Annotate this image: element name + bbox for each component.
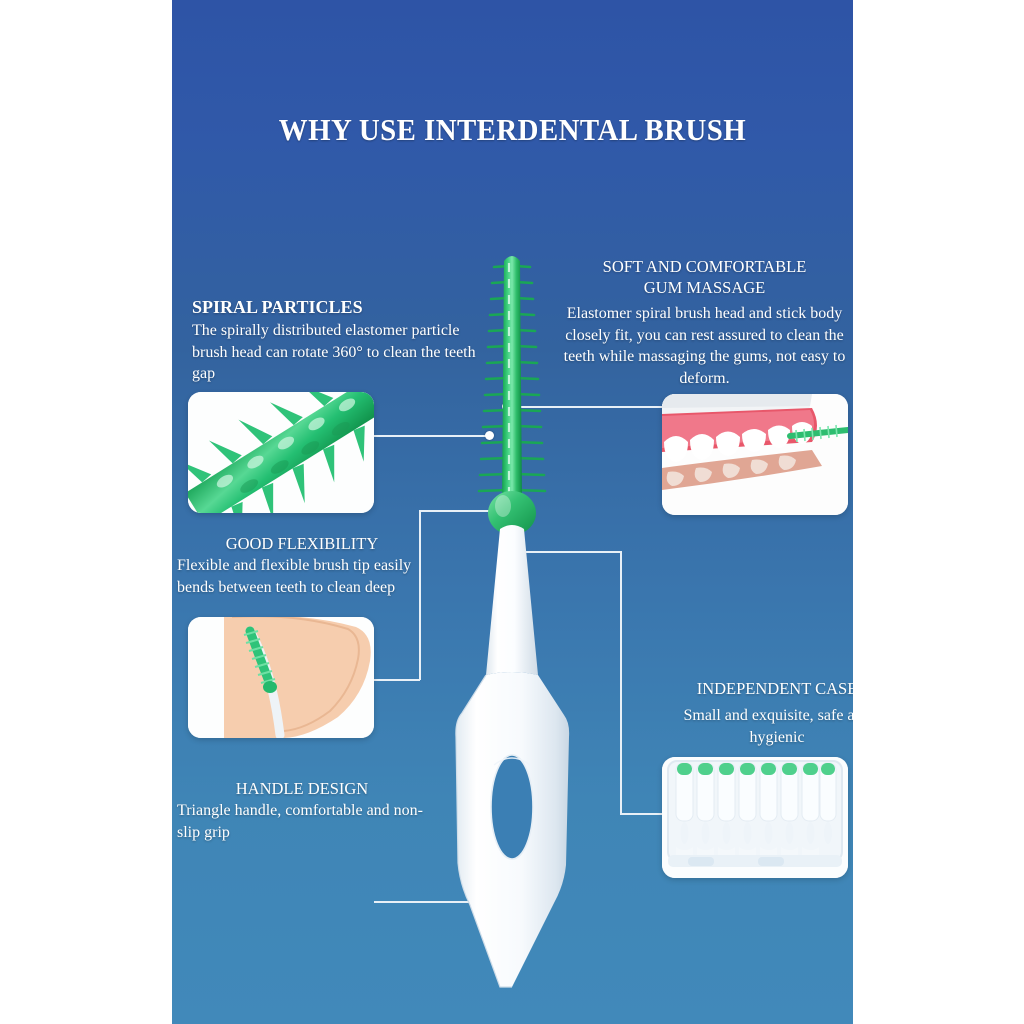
feature-handle-design: HANDLE DESIGN Triangle handle, comfortab… <box>177 778 427 843</box>
feature-good-flexibility: GOOD FLEXIBILITY Flexible and flexible b… <box>177 533 427 598</box>
feature-case-heading: INDEPENDENT CASE <box>662 678 853 699</box>
spiral-brush-head-closeup-photo <box>188 392 374 513</box>
connector-flex-bottom <box>374 679 420 681</box>
feature-independent-case: INDEPENDENT CASE Small and exquisite, sa… <box>662 678 853 749</box>
poster-background: WHY USE INTERDENTAL BRUSH <box>172 0 853 1024</box>
feature-flexibility-heading: GOOD FLEXIBILITY <box>177 533 427 554</box>
brush-storage-case-photo <box>662 757 848 878</box>
page-title: WHY USE INTERDENTAL BRUSH <box>196 112 829 148</box>
dental-model-teeth-photo <box>662 394 848 515</box>
feature-case-body: Small and exquisite, safe and hygienic <box>662 705 853 749</box>
infographic-canvas: WHY USE INTERDENTAL BRUSH <box>0 0 1024 1024</box>
feature-gum-body: Elastomer spiral brush head and stick bo… <box>562 303 847 389</box>
feature-spiral-heading: SPIRAL PARTICLES <box>192 297 492 318</box>
feature-spiral-body: The spirally distributed elastomer parti… <box>192 320 492 385</box>
connector-case-vertical <box>620 551 622 814</box>
feature-handle-heading: HANDLE DESIGN <box>177 778 427 799</box>
feature-gum-massage: SOFT AND COMFORTABLE GUM MASSAGE Elastom… <box>562 256 847 389</box>
feature-flexibility-body: Flexible and flexible brush tip easily b… <box>177 555 427 598</box>
bending-brush-tip-finger-photo <box>188 617 374 738</box>
feature-gum-heading-line2: GUM MASSAGE <box>562 277 847 298</box>
feature-spiral-particles: SPIRAL PARTICLES The spirally distribute… <box>192 297 492 385</box>
feature-handle-body: Triangle handle, comfortable and non-sli… <box>177 800 427 843</box>
feature-gum-heading-line1: SOFT AND COMFORTABLE <box>562 256 847 277</box>
